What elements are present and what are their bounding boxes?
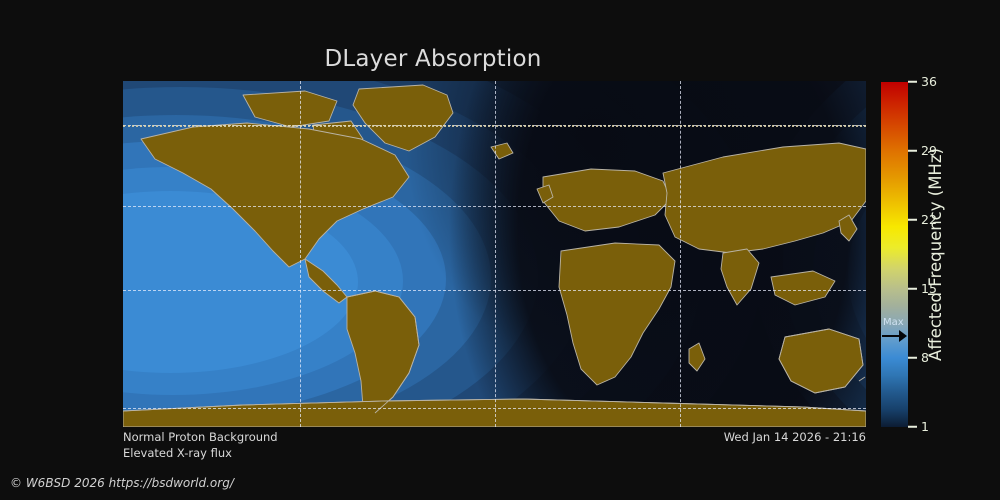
page-title: DLayer Absorption [0,46,866,72]
colorbar-tick-dash [908,288,917,290]
colorbar[interactable] [881,82,908,427]
colorbar-axis-label: Affected Frequency (MHz) [922,82,948,427]
app-root: DLayer Absorption [0,0,1000,500]
world-map[interactable] [123,81,866,427]
colorbar-tick-dash [908,150,917,152]
footer-copyright: © W6BSD 2026 https://bsdworld.org/ [10,476,234,490]
gridline-horizontal [123,206,866,207]
max-marker-label: Max [883,318,904,328]
map-gridlines [123,81,866,427]
colorbar-tick-dash [908,81,917,83]
colorbar-axis-label-text: Affected Frequency (MHz) [926,148,945,361]
status-line-proton: Normal Proton Background [123,429,278,445]
gridline-vertical [495,81,496,427]
status-text: Normal Proton Background Elevated X-ray … [123,429,278,461]
gridline-horizontal [123,408,866,409]
colorbar-tick-dash [908,357,917,359]
gridline-horizontal [123,290,866,291]
gridline-vertical [300,81,301,427]
colorbar-tick-dash [908,426,917,428]
gridline-equator [123,125,866,127]
status-line-xray: Elevated X-ray flux [123,445,278,461]
timestamp-label: Wed Jan 14 2026 - 21:16 [724,430,866,444]
colorbar-max-marker: Max [881,318,908,344]
colorbar-gradient [881,82,908,427]
max-arrow-head [899,330,907,342]
colorbar-tick-dash [908,219,917,221]
gridline-vertical [680,81,681,427]
